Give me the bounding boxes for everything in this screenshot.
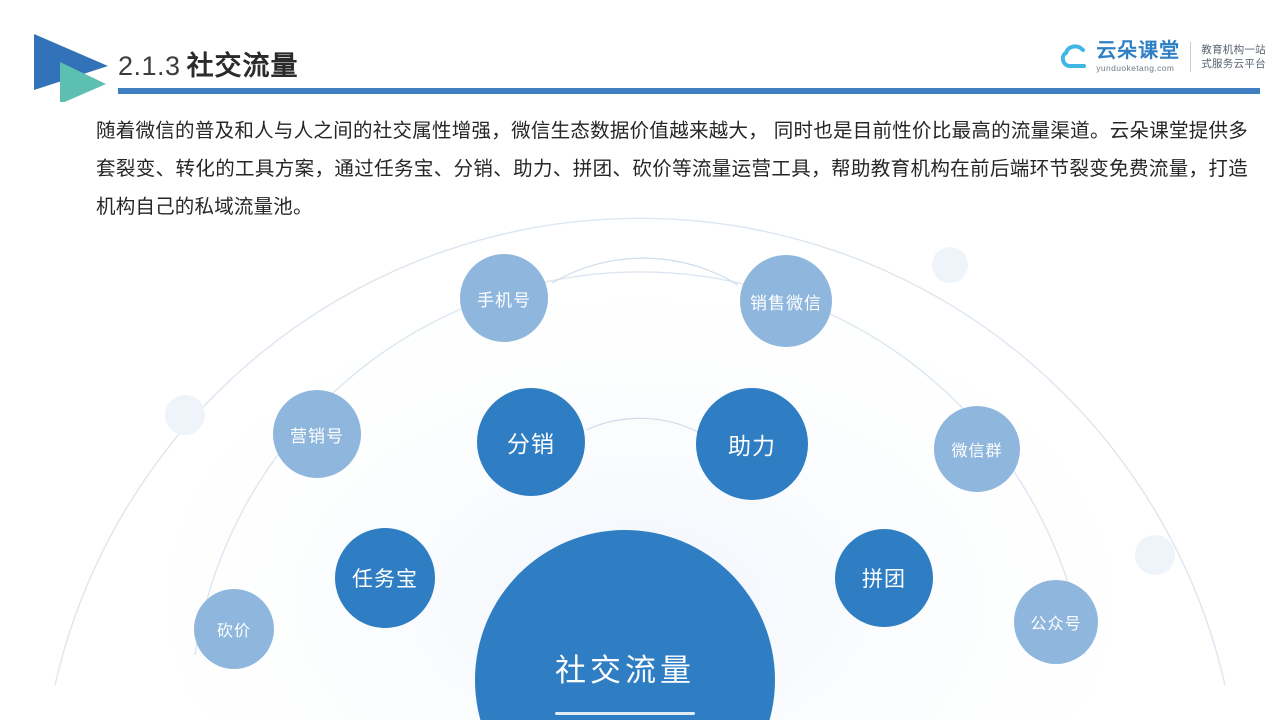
node-label: 公众号 (1030, 610, 1081, 634)
node-xiaoshou-weixin[interactable]: 销售微信 (740, 255, 832, 347)
node-yingxiao-hao[interactable]: 营销号 (273, 390, 361, 478)
node-label: 营销号 (290, 422, 344, 447)
decorative-circle (932, 247, 968, 283)
node-pintuan[interactable]: 拼团 (835, 529, 933, 627)
brand-tagline-line2: 式服务云平台 (1201, 57, 1266, 71)
brand-name-cn: 云朵课堂 (1096, 41, 1180, 61)
node-label: 任务宝 (352, 563, 418, 593)
social-traffic-diagram: 手机号 销售微信 营销号 分销 助力 微信群 任务宝 拼团 砍价 公众号 (0, 215, 1280, 720)
body-paragraph: 随着微信的普及和人与人之间的社交属性增强，微信生态数据价值越来越大， 同时也是目… (96, 112, 1248, 226)
title-divider (118, 88, 1260, 94)
brand-logo-left: 云朵课堂 yunduoketang.com (1061, 41, 1180, 73)
decorative-circle (1135, 535, 1175, 575)
node-label: 拼团 (862, 563, 906, 593)
node-label: 销售微信 (750, 289, 822, 314)
node-label: 分销 (507, 425, 555, 459)
double-triangle-play-icon (30, 28, 116, 102)
node-kanjia[interactable]: 砍价 (194, 589, 274, 669)
brand-name-en: yunduoketang.com (1096, 64, 1180, 73)
brand-names: 云朵课堂 yunduoketang.com (1096, 41, 1180, 73)
page-title: 2.1.3 社交流量 (118, 44, 299, 83)
node-fenxiao[interactable]: 分销 (477, 388, 585, 496)
node-gongzhong-hao[interactable]: 公众号 (1014, 580, 1098, 664)
brand-tagline-line1: 教育机构一站 (1201, 43, 1266, 57)
node-label: 砍价 (217, 617, 251, 641)
node-renwu-bao[interactable]: 任务宝 (335, 528, 435, 628)
section-number: 2.1.3 (118, 51, 181, 82)
center-hub-underline (555, 712, 695, 715)
brand-divider (1190, 42, 1191, 72)
node-weixin-qun[interactable]: 微信群 (934, 406, 1020, 492)
center-hub-label: 社交流量 (555, 645, 695, 690)
slide-root: 2.1.3 社交流量 云朵课堂 yunduoketang.com 教育机构一站 … (0, 0, 1280, 720)
cloud-icon (1061, 43, 1091, 71)
brand-logo: 云朵课堂 yunduoketang.com 教育机构一站 式服务云平台 (1061, 34, 1266, 80)
node-label: 助力 (728, 427, 776, 461)
node-shouji-hao[interactable]: 手机号 (460, 254, 548, 342)
brand-tagline: 教育机构一站 式服务云平台 (1201, 43, 1266, 71)
node-label: 微信群 (951, 437, 1002, 461)
decorative-circle (165, 395, 205, 435)
section-title: 社交流量 (187, 44, 299, 83)
node-zhuli[interactable]: 助力 (696, 388, 808, 500)
node-label: 手机号 (477, 286, 531, 311)
